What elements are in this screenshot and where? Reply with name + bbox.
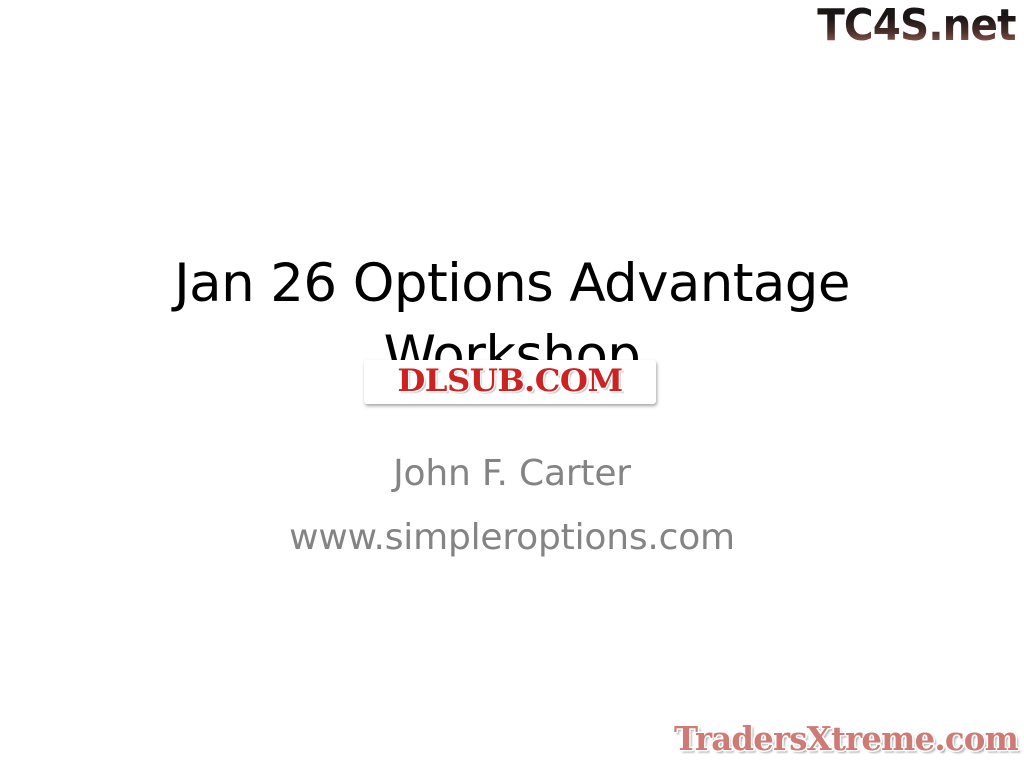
title-line-1: Jan 26 Options Advantage <box>0 248 1024 320</box>
watermark-dlsub-com: DLSUB.COM <box>364 360 656 404</box>
presenter-name: John F. Carter <box>0 442 1024 506</box>
watermark-tc4s-net: TC4S.net <box>818 2 1016 50</box>
watermark-dlsub-label: DLSUB.COM <box>358 360 662 404</box>
presentation-slide: TC4S.net Jan 26 Options Advantage Worksh… <box>0 0 1024 768</box>
slide-subtitle: John F. Carter www.simpleroptions.com <box>0 442 1024 570</box>
presenter-website: www.simpleroptions.com <box>0 506 1024 570</box>
watermark-tradersxtreme-com: TradersXtreme.com <box>674 719 1018 758</box>
